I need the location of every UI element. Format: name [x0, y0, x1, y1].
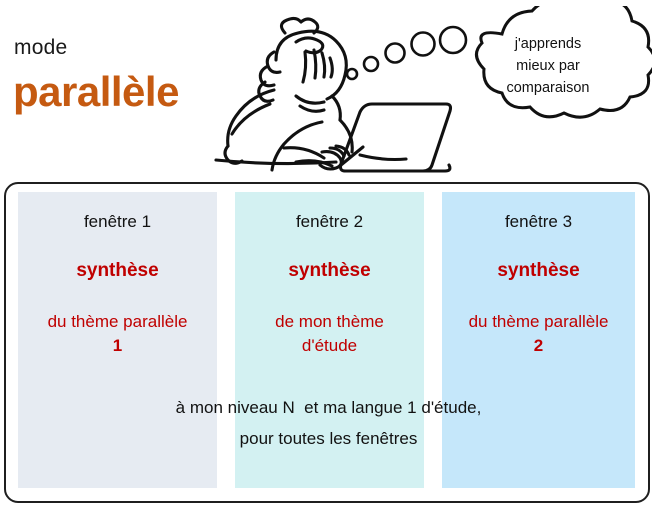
column-detail-2: de mon thème d'étude: [235, 310, 424, 358]
thought-bubble-line-3: comparaison: [478, 77, 618, 99]
caption-line-2: pour toutes les fenêtres: [0, 423, 657, 454]
synthese-heading-1: synthèse: [18, 260, 217, 282]
window-label-2: fenêtre 2: [235, 212, 424, 232]
panel-caption: à mon niveau N et ma langue 1 d'étude, p…: [0, 392, 657, 454]
synthese-heading-2: synthèse: [235, 260, 424, 282]
columns-container: fenêtre 1 synthèse du thème parallèle 1 …: [0, 182, 657, 503]
page-title: parallèle: [13, 68, 179, 116]
thought-bubble-line-1: j'apprends: [478, 33, 618, 55]
column-detail-3: du thème parallèle 2: [442, 310, 635, 358]
thought-bubble-line-2: mieux par: [478, 55, 618, 77]
column-detail-number-2: d'étude: [302, 336, 357, 355]
column-detail-number-3: 2: [534, 336, 543, 355]
thought-bubble-text: j'apprends mieux par comparaison: [478, 33, 618, 99]
synthese-heading-3: synthèse: [442, 260, 635, 282]
mode-label: mode: [14, 36, 67, 60]
column-detail-text-3: du thème parallèle: [469, 312, 609, 331]
column-detail-text-2: de mon thème: [275, 312, 384, 331]
window-label-1: fenêtre 1: [18, 212, 217, 232]
caption-line-1: à mon niveau N et ma langue 1 d'étude,: [0, 392, 657, 423]
window-label-3: fenêtre 3: [442, 212, 635, 232]
column-detail-text-1: du thème parallèle: [48, 312, 188, 331]
header-area: mode parallèle: [0, 0, 657, 182]
column-detail-1: du thème parallèle 1: [18, 310, 217, 358]
column-detail-number-1: 1: [113, 336, 122, 355]
